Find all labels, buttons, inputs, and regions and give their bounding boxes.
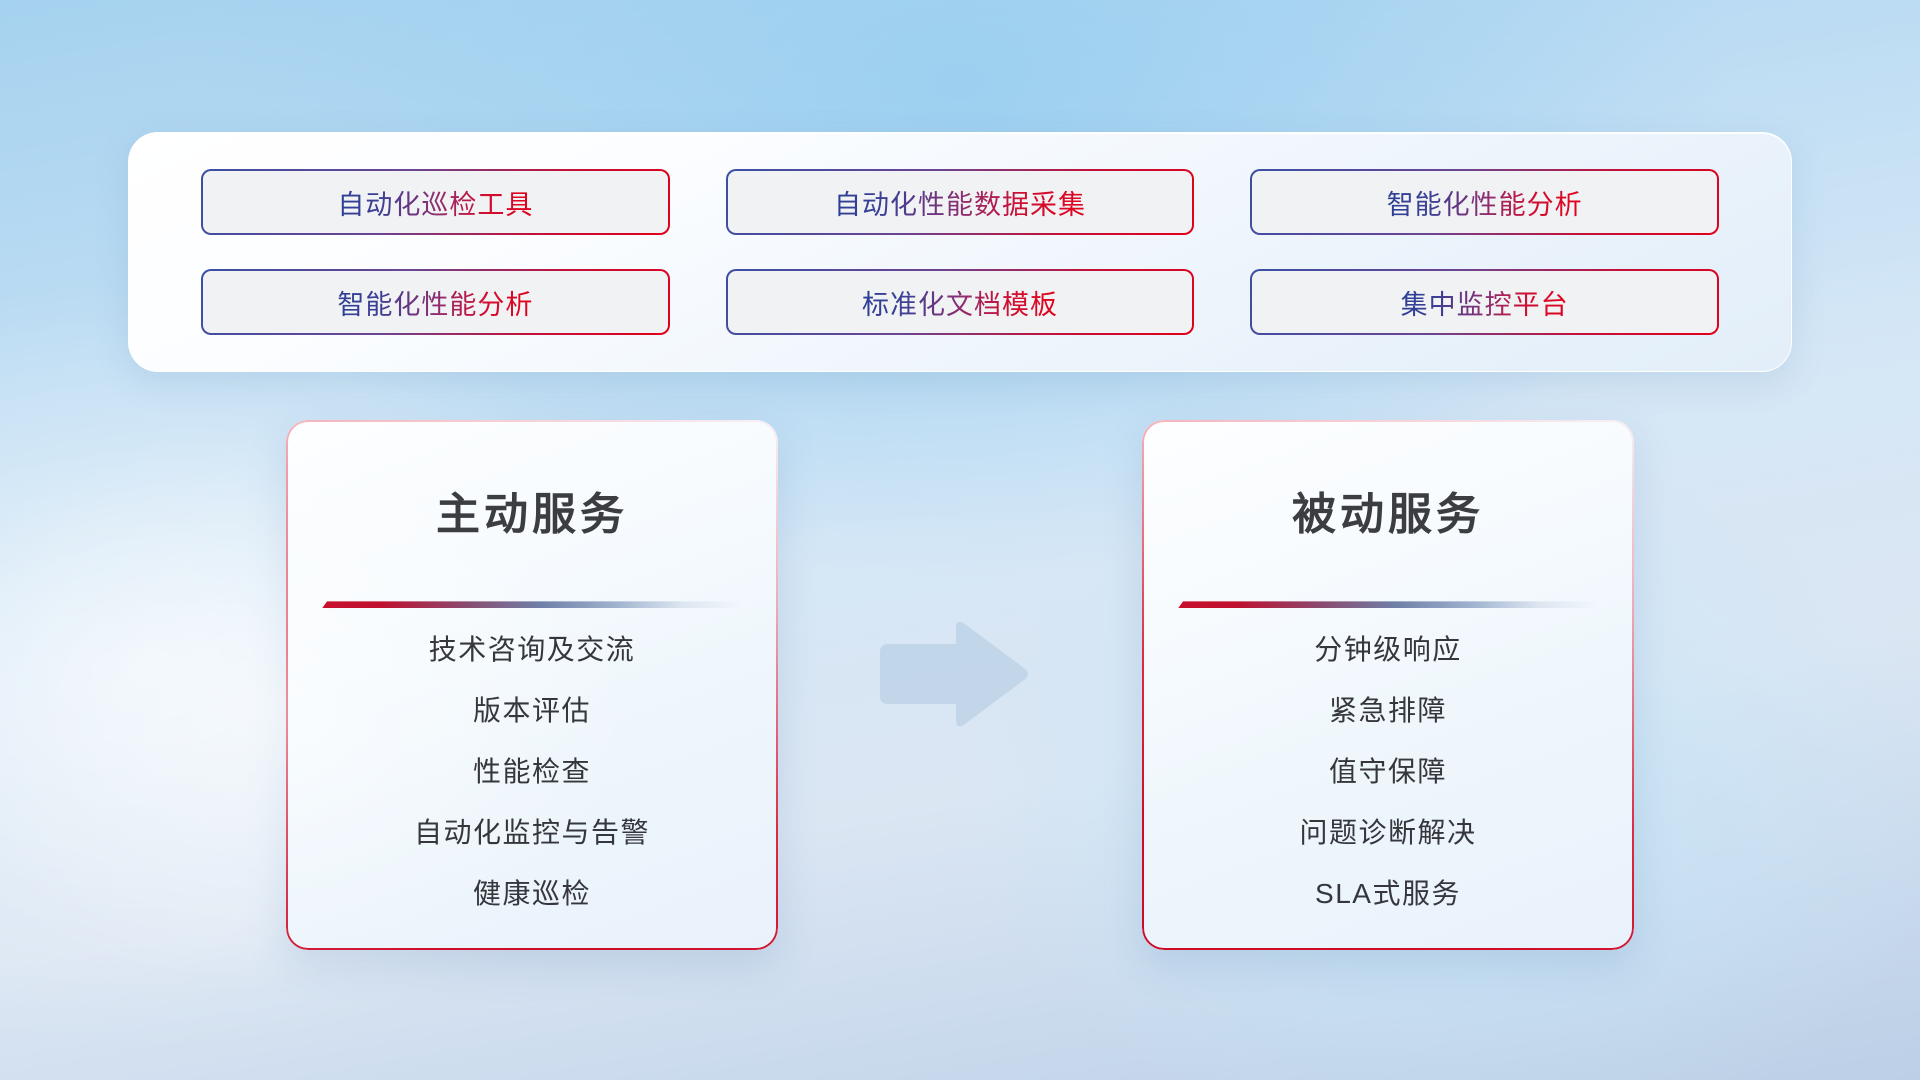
capability-pill-inner: 智能化性能分析: [1252, 171, 1717, 233]
capability-pill-label: 自动化性能数据采集: [834, 183, 1086, 222]
service-card-title: 被动服务: [1292, 491, 1484, 539]
service-card-proactive: 主动服务 技术咨询及交流 版本评估 性能检查 自动化监控与告警 健康巡检: [286, 420, 778, 950]
service-item-list: 技术咨询及交流 版本评估 性能检查 自动化监控与告警 健康巡检: [322, 608, 742, 920]
service-list-item: 问题诊断解决: [1299, 815, 1476, 850]
service-list-item: 紧急排障: [1329, 693, 1447, 728]
service-list-item: 健康巡检: [473, 876, 591, 911]
service-list-item: 性能检查: [473, 754, 591, 789]
capability-pill-inner: 自动化巡检工具: [203, 171, 668, 233]
capability-pill[interactable]: 智能化性能分析: [1250, 169, 1719, 235]
service-list-item: SLA式服务: [1315, 876, 1461, 911]
capability-pill[interactable]: 自动化巡检工具: [201, 169, 670, 235]
capability-pill-inner: 标准化文档模板: [728, 271, 1193, 333]
diagram-canvas: 自动化巡检工具 自动化性能数据采集 智能化性能分析 智能化性能分析: [0, 0, 1920, 1080]
capability-pill-inner: 自动化性能数据采集: [728, 171, 1193, 233]
service-list-item: 分钟级响应: [1314, 632, 1462, 667]
capability-pill[interactable]: 标准化文档模板: [726, 269, 1195, 335]
capability-row-2: 智能化性能分析 标准化文档模板 集中监控平台: [201, 269, 1719, 335]
title-divider: [322, 601, 742, 608]
capability-pill-label: 自动化巡检工具: [337, 183, 533, 222]
capability-pill-label: 智能化性能分析: [1387, 183, 1583, 222]
service-card-inner: 主动服务 技术咨询及交流 版本评估 性能检查 自动化监控与告警 健康巡检: [286, 420, 778, 950]
capability-panel: 自动化巡检工具 自动化性能数据采集 智能化性能分析 智能化性能分析: [128, 132, 1792, 372]
right-arrow-icon: [872, 618, 1032, 730]
capability-pill-label: 智能化性能分析: [337, 283, 533, 322]
capability-row-1: 自动化巡检工具 自动化性能数据采集 智能化性能分析: [201, 169, 1719, 235]
service-list-item: 值守保障: [1329, 754, 1447, 789]
capability-pill-label: 标准化文档模板: [862, 283, 1058, 322]
service-list-item: 自动化监控与告警: [414, 815, 650, 850]
capability-pill[interactable]: 自动化性能数据采集: [726, 169, 1195, 235]
capability-pill[interactable]: 集中监控平台: [1250, 269, 1719, 335]
service-card-title: 主动服务: [436, 491, 628, 539]
capability-pill-label: 集中监控平台: [1401, 283, 1569, 322]
capability-pill-inner: 集中监控平台: [1252, 271, 1717, 333]
capability-pill[interactable]: 智能化性能分析: [201, 269, 670, 335]
service-list-item: 版本评估: [473, 693, 591, 728]
capability-pill-inner: 智能化性能分析: [203, 271, 668, 333]
service-card-reactive: 被动服务 分钟级响应 紧急排障 值守保障 问题诊断解决 SLA式服务: [1142, 420, 1634, 950]
title-divider: [1178, 601, 1598, 608]
service-card-inner: 被动服务 分钟级响应 紧急排障 值守保障 问题诊断解决 SLA式服务: [1142, 420, 1634, 950]
service-item-list: 分钟级响应 紧急排障 值守保障 问题诊断解决 SLA式服务: [1178, 608, 1598, 920]
service-list-item: 技术咨询及交流: [429, 632, 636, 667]
